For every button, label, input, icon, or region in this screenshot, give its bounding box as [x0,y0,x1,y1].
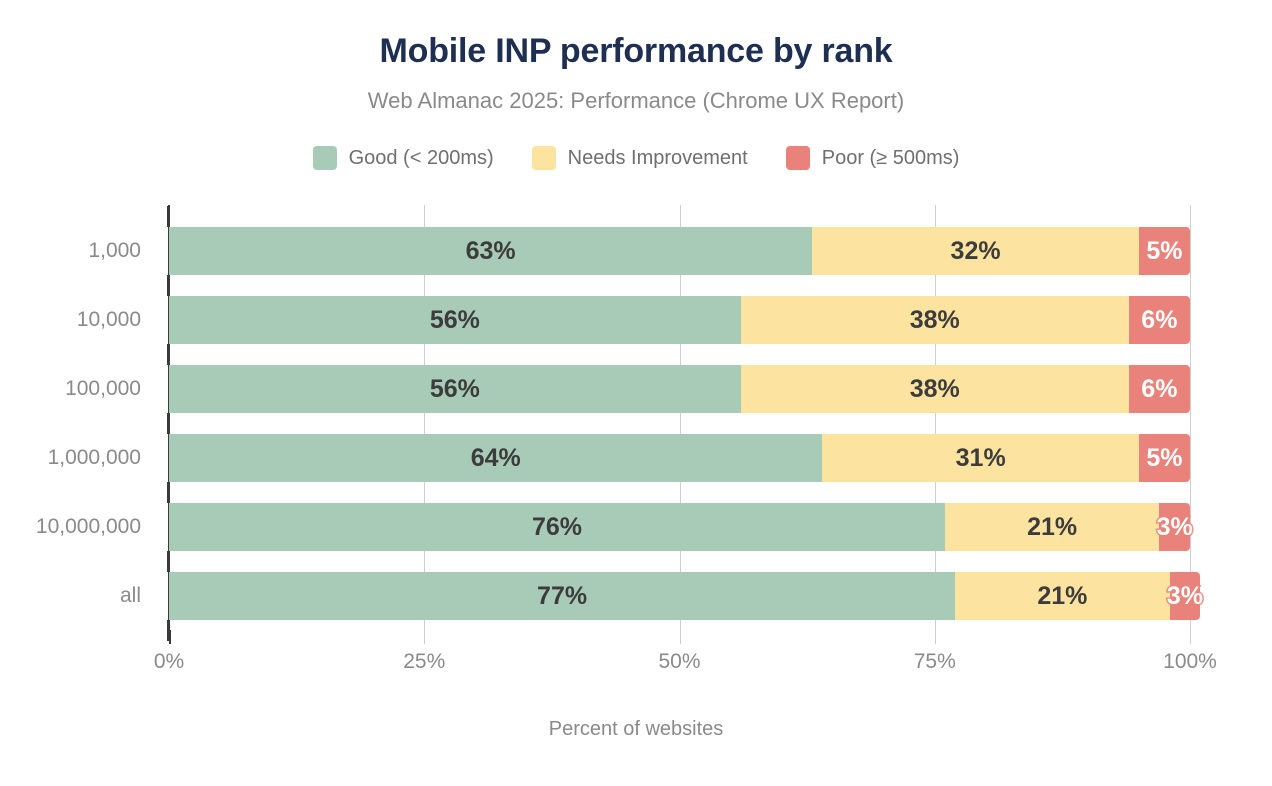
x-axis-tick-label: 100% [1163,650,1217,674]
y-axis-tickmark [167,413,170,434]
y-axis-label: 10,000,000 [0,503,155,551]
y-axis-tickmark [167,206,170,227]
legend-swatch-icon [532,146,556,170]
y-axis-tickmark [167,275,170,296]
y-axis-tickmark [167,482,170,503]
y-axis-tickmark [167,551,170,572]
y-axis-label: 100,000 [0,365,155,413]
legend-item-label: Needs Improvement [568,147,748,170]
legend-item-label: Good (< 200ms) [349,147,494,170]
y-axis-tickmarks [169,205,1190,630]
x-axis-tick-label: 25% [403,650,445,674]
legend-item-good[interactable]: Good (< 200ms) [313,146,494,170]
legend-swatch-icon [786,146,810,170]
x-axis-title: Percent of websites [0,718,1272,741]
gridline [1190,205,1191,630]
chart-subtitle: Web Almanac 2025: Performance (Chrome UX… [0,88,1272,114]
y-axis-tickmark [167,620,170,641]
y-axis-label: all [0,572,155,620]
stacked-bar-chart: Mobile INP performance by rank Web Alman… [0,0,1272,786]
y-axis-label: 1,000,000 [0,434,155,482]
plot-area: 63%32%5%56%38%6%56%38%6%64%31%5%76%21%3%… [169,205,1190,630]
legend-item-label: Poor (≥ 500ms) [822,147,960,170]
x-axis: 0%25%50%75%100% [169,630,1190,680]
y-axis-label: 10,000 [0,296,155,344]
x-axis-tickmark [680,630,681,644]
legend-item-poor[interactable]: Poor (≥ 500ms) [786,146,960,170]
x-axis-tickmark [424,630,425,644]
x-axis-tick-label: 50% [658,650,700,674]
y-axis-label: 1,000 [0,227,155,275]
x-axis-tickmark [1190,630,1191,644]
chart-legend: Good (< 200ms)Needs ImprovementPoor (≥ 5… [0,146,1272,170]
y-axis-labels: 1,00010,000100,0001,000,00010,000,000all [0,205,155,630]
x-axis-tickmark [935,630,936,644]
legend-item-needs_improvement[interactable]: Needs Improvement [532,146,748,170]
legend-swatch-icon [313,146,337,170]
chart-title: Mobile INP performance by rank [0,32,1272,71]
y-axis-tickmark [167,344,170,365]
x-axis-tick-label: 0% [154,650,184,674]
x-axis-tick-label: 75% [914,650,956,674]
